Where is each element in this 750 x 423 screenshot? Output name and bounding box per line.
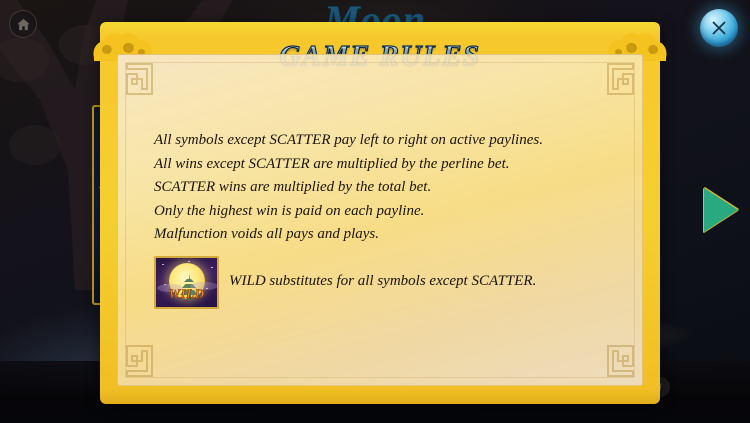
meander-corner-icon xyxy=(601,62,635,96)
rules-content-panel: All symbols except SCATTER pay left to r… xyxy=(117,54,643,386)
rule-line: All wins except SCATTER are multiplied b… xyxy=(154,153,616,177)
close-button[interactable] xyxy=(700,9,738,47)
wild-symbol-label: WILD xyxy=(156,282,217,306)
home-button[interactable] xyxy=(9,10,37,38)
rule-line: Only the highest win is paid on each pay… xyxy=(154,200,616,224)
meander-corner-icon xyxy=(125,344,159,378)
wild-symbol-image: WILD xyxy=(154,256,219,309)
game-rules-dialog: GAME RULES All symbols except SCATTER pa… xyxy=(100,22,660,404)
rule-line: All symbols except SCATTER pay left to r… xyxy=(154,129,616,153)
wild-rule-text: WILD substitutes for all symbols except … xyxy=(229,270,536,294)
rule-line: Malfunction voids all pays and plays. xyxy=(154,223,616,247)
rule-line: SCATTER wins are multiplied by the total… xyxy=(154,176,616,200)
meander-corner-icon xyxy=(601,344,635,378)
next-page-button[interactable] xyxy=(704,188,738,232)
close-icon xyxy=(709,18,729,38)
home-icon xyxy=(16,17,31,32)
rules-text-list: All symbols except SCATTER pay left to r… xyxy=(154,129,616,309)
meander-corner-icon xyxy=(125,62,159,96)
wild-rule-row: WILD WILD substitutes for all symbols ex… xyxy=(154,256,616,309)
